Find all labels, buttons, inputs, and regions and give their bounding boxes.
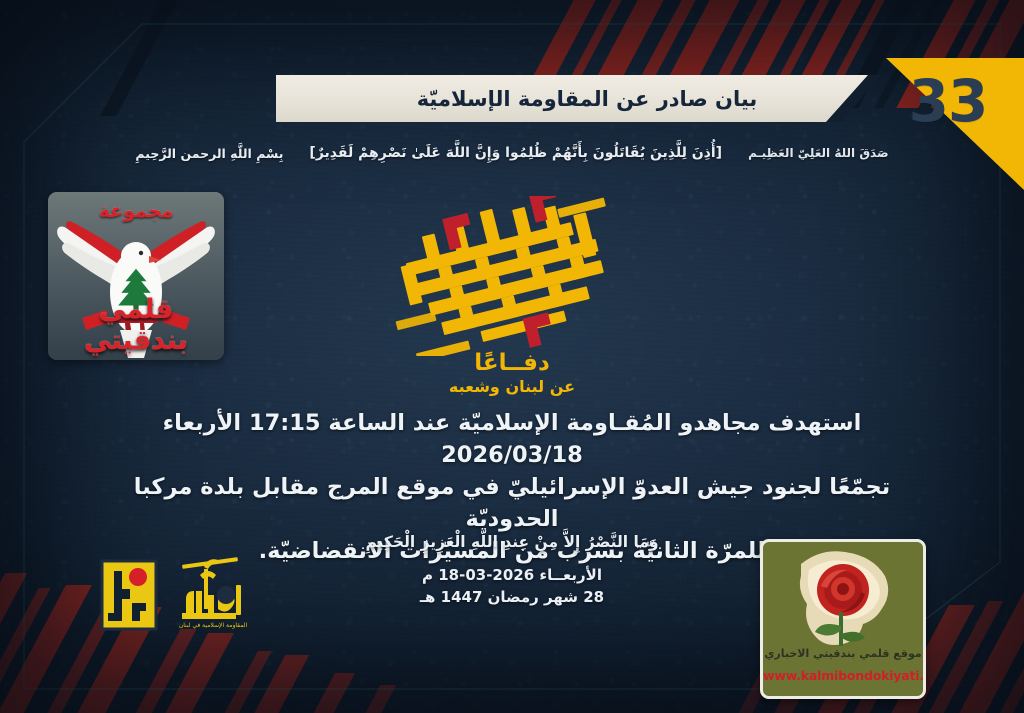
statement-line-1: استهدف مجاهدو المُقـاومة الإسلاميّة عند … bbox=[92, 408, 932, 472]
header-banner: بيان صادر عن المقاومة الإسلاميّة bbox=[276, 75, 868, 122]
hezbollah-emblem-icon: المقاومة الإسلامية في لبنان bbox=[174, 555, 252, 631]
rose-illustration bbox=[763, 546, 923, 650]
group-logo-bottom-label: قلمي بندقيتي bbox=[48, 294, 224, 356]
news-site-logo-card[interactable]: موقع قلمي بندقيتي الاخباري www.kalmibond… bbox=[760, 539, 926, 699]
iran-revolution-emblem-icon bbox=[100, 559, 158, 631]
basmala-text: بِسْمِ اللَّهِ الرحمن الرَّحِيمِ bbox=[135, 146, 283, 161]
tasdeeq-text: صَدَقَ اللهُ العَلِيّ العَظِيـم bbox=[748, 146, 889, 160]
aya-text: [أُذِنَ لِلَّذِينَ يُقَاتَلُونَ بِأَنَّه… bbox=[309, 145, 722, 161]
emblem-group: المقاومة الإسلامية في لبنان bbox=[100, 555, 252, 631]
group-logo-card: مجموعة bbox=[48, 192, 224, 360]
group-logo-top-label: مجموعة bbox=[48, 200, 224, 222]
hezbollah-caption: المقاومة الإسلامية في لبنان bbox=[179, 622, 248, 629]
quran-verse-line: صَدَقَ اللهُ العَلِيّ العَظِيـم [أُذِنَ … bbox=[0, 145, 1024, 161]
site-name-arabic: موقع قلمي بندقيتي الاخباري bbox=[763, 647, 923, 660]
calligraphy-subline-1: دفــاعًا bbox=[474, 350, 550, 376]
statement-poster: بيان صادر عن المقاومة الإسلاميّة 33 صَدَ… bbox=[0, 0, 1024, 713]
kufic-calligraphy-icon bbox=[372, 196, 652, 356]
red-rose-icon bbox=[783, 546, 903, 650]
calligraphy-subline-2: عن لبنان وشعبه bbox=[449, 377, 575, 396]
statement-number: 33 bbox=[900, 58, 996, 144]
banner-title: بيان صادر عن المقاومة الإسلاميّة bbox=[387, 87, 758, 111]
resistance-calligraphy: دفــاعًا عن لبنان وشعبه bbox=[362, 196, 662, 401]
statement-line-2: تجمّعًا لجنود جيش العدوّ الإسرائيليّ في … bbox=[92, 472, 932, 536]
site-url[interactable]: www.kalmibondokiyati.com bbox=[763, 668, 923, 683]
